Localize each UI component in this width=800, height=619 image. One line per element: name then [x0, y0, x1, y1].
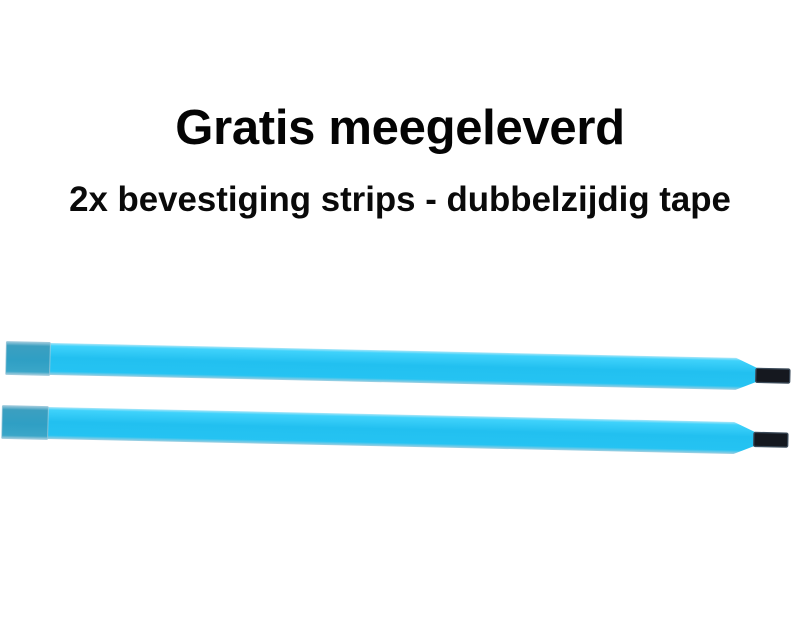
bevestiging-strip-2 — [2, 405, 793, 456]
pull-tab-right — [756, 368, 790, 383]
backing-tab-left — [6, 342, 51, 376]
product-promo-image: Gratis meegeleverd 2x bevestiging strips… — [0, 0, 800, 619]
strip-graphic — [6, 341, 795, 392]
strip-graphic — [2, 405, 793, 456]
pull-tab-right — [754, 432, 788, 447]
page-title: Gratis meegeleverd — [0, 104, 800, 153]
backing-tab-left — [2, 406, 49, 440]
tape-body — [10, 342, 759, 390]
promo-subtitle: 2x bevestiging strips - dubbelzijdig tap… — [2, 182, 798, 217]
bevestiging-strip-1 — [6, 341, 795, 392]
tape-body — [6, 406, 757, 454]
